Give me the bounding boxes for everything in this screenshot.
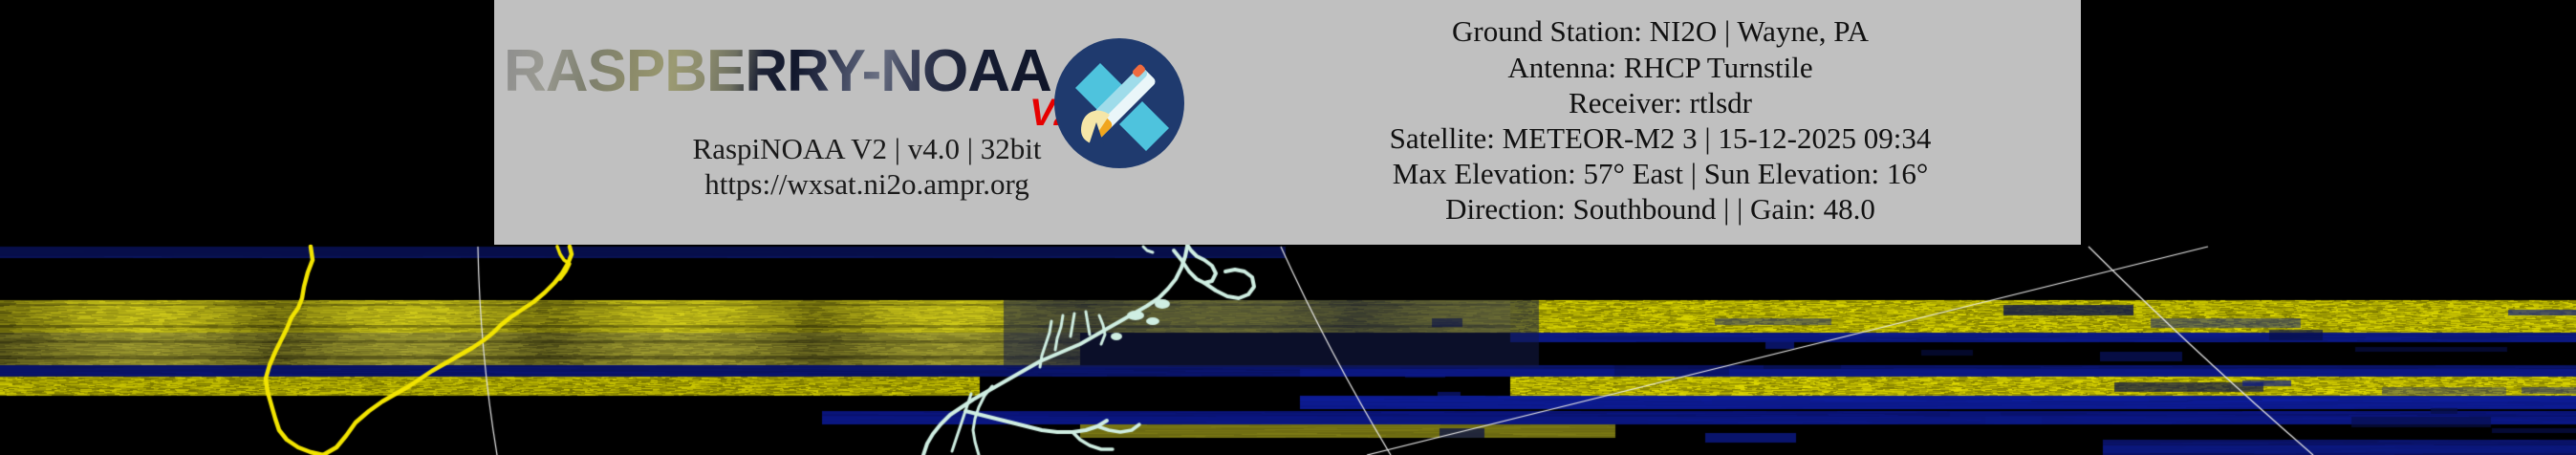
brand-text-lines: RaspiNOAA V2 | v4.0 | 32bit https://wxsa… — [693, 132, 1042, 202]
info-line-direction-gain: Direction: Southbound | | Gain: 48.0 — [1445, 191, 1875, 227]
info-line-satellite: Satellite: METEOR-M2 3 | 15-12-2025 09:3… — [1390, 120, 1932, 156]
info-line-receiver: Receiver: rtlsdr — [1569, 85, 1752, 120]
satellite-icon — [1047, 31, 1192, 176]
brand-line-url[interactable]: https://wxsat.ni2o.ampr.org — [693, 167, 1042, 203]
pass-image-root: RASPBERRY-NOAA V2 Ras — [0, 0, 2576, 455]
brand-line-version: RaspiNOAA V2 | v4.0 | 32bit — [693, 132, 1042, 167]
header-panel: RASPBERRY-NOAA V2 Ras — [494, 0, 2081, 245]
info-line-antenna: Antenna: RHCP Turnstile — [1507, 50, 1812, 85]
branding-block: RASPBERRY-NOAA V2 Ras — [494, 0, 1240, 245]
pass-info-block: Ground Station: NI2O | Wayne, PA Antenna… — [1240, 0, 2081, 245]
wordmark-row: RASPBERRY-NOAA V2 — [494, 25, 1240, 128]
info-line-ground-station: Ground Station: NI2O | Wayne, PA — [1452, 13, 1869, 49]
info-line-elevation: Max Elevation: 57° East | Sun Elevation:… — [1393, 156, 1929, 191]
raspberry-noaa-wordmark: RASPBERRY-NOAA — [504, 42, 1051, 101]
